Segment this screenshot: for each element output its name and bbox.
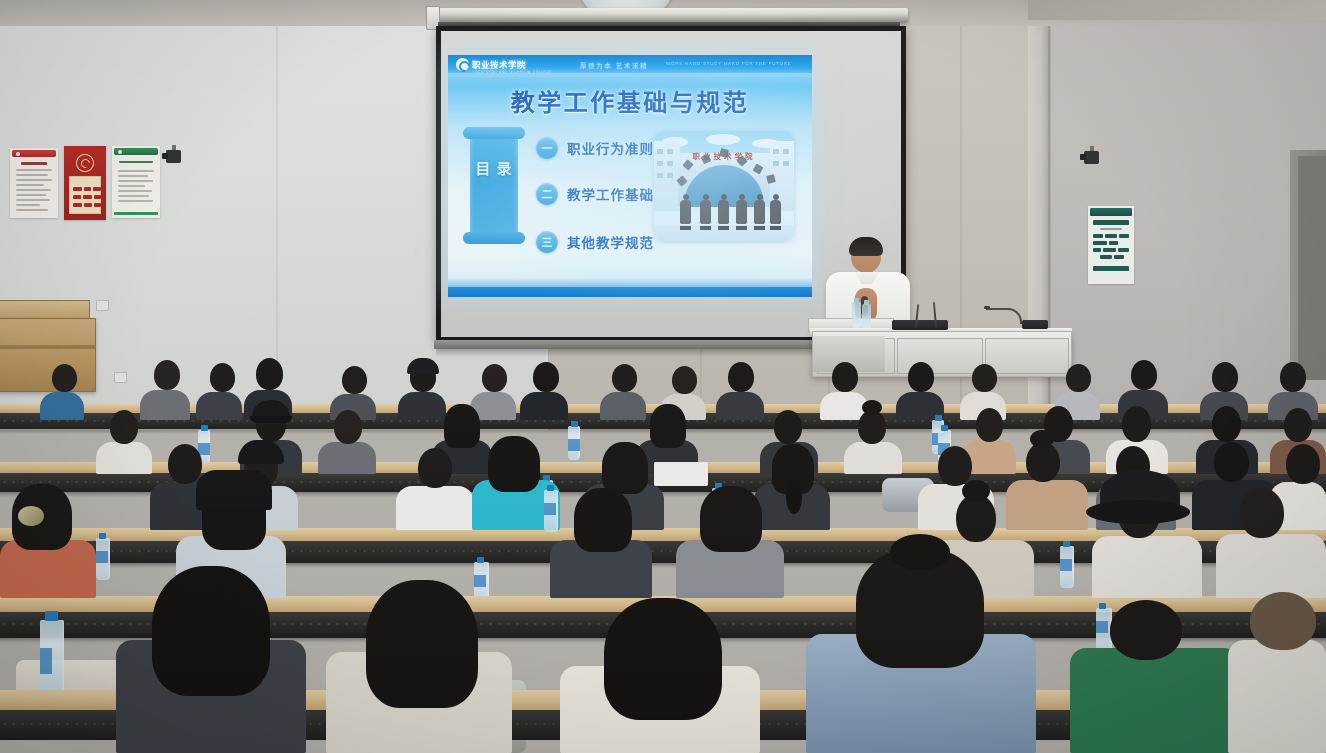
toc-label-3: 其他教学规范 <box>567 232 654 252</box>
graduate-figure <box>716 193 731 227</box>
microphone-head <box>984 306 990 309</box>
hair-bun <box>890 534 950 570</box>
hair-bun <box>962 480 990 502</box>
lecture-hall-photo: 职业技术学院 VOCATIONAL AND TECHNICAL COLLEGE … <box>0 0 1326 753</box>
college-logo-icon <box>456 58 469 71</box>
bottle-label <box>1060 559 1072 571</box>
bottle-label <box>40 648 52 674</box>
poster-table <box>69 176 101 214</box>
baseball-cap <box>407 358 439 374</box>
cardboard-boxes <box>0 318 96 392</box>
slide-title: 教学工作基础与规范 <box>448 83 812 118</box>
bottle-label <box>568 439 580 451</box>
camera-left-wall-icon <box>166 150 181 163</box>
bottle-cap <box>1063 541 1070 547</box>
presenter-hair <box>849 237 883 256</box>
bottle-cap <box>935 415 942 421</box>
bottle-cap <box>1099 603 1106 609</box>
presentation-slide: 职业技术学院 VOCATIONAL AND TECHNICAL COLLEGE … <box>448 55 812 297</box>
green-shirt <box>1070 648 1240 753</box>
bottle-cap <box>941 425 948 431</box>
graduate-figure <box>678 193 693 227</box>
water-bottle <box>96 538 110 580</box>
graduation-photo: 职业技术学院 <box>654 131 794 241</box>
poster-header-bar <box>114 148 158 155</box>
toc-number-2: 二 <box>536 183 558 205</box>
wall-outlet <box>114 372 127 383</box>
toc-number-1: 一 <box>536 137 558 159</box>
toc-number-3: 三 <box>536 231 558 253</box>
graduate-figure <box>768 193 783 227</box>
slide-header-motto-cn: 厚德为本 艺术求精 <box>580 60 648 70</box>
bottle-cap <box>477 557 484 563</box>
paper-sheet <box>654 462 708 486</box>
water-bottle <box>568 426 580 460</box>
water-bottle <box>1060 546 1074 588</box>
bottle-cap <box>547 485 554 491</box>
bottle-cap <box>45 611 58 621</box>
graduate-figure <box>734 193 749 227</box>
screen-roller-housing <box>428 8 908 22</box>
toc-label-1: 职业行为准则 <box>567 138 654 158</box>
lectern-equipment <box>892 320 948 330</box>
podium-water-bottle <box>862 304 871 330</box>
toc-item-3: 三 其他教学规范 <box>536 231 654 253</box>
poster-notice-white <box>10 148 58 218</box>
bottle-label <box>544 503 556 515</box>
poster-seal-icon <box>76 154 94 172</box>
cap-brim <box>250 416 292 423</box>
slide-footer-band <box>448 287 812 297</box>
ceiling-slope-right <box>1028 0 1326 20</box>
lectern-equipment <box>1022 320 1048 329</box>
bottle-label <box>474 575 486 587</box>
college-logo-subtext: VOCATIONAL AND TECHNICAL COLLEGE <box>472 70 552 74</box>
bottle-cap <box>99 533 106 539</box>
bottle-cap <box>201 425 208 431</box>
toc-label-2: 教学工作基础 <box>567 184 654 204</box>
college-logo-text: 职业技术学院 <box>472 59 526 71</box>
poster-emblem-red <box>64 146 106 220</box>
bottle-label <box>1096 621 1108 633</box>
poster-info-teal <box>1088 206 1134 284</box>
poster-emblem-dot <box>118 150 122 154</box>
wall-outlet <box>96 300 109 311</box>
door-panel[interactable] <box>1298 156 1326 380</box>
bottle-label <box>96 551 108 563</box>
poster-emblem-dot <box>16 152 20 156</box>
baseball-cap <box>196 470 272 510</box>
slide-header-motto-en: WORK HARD STUDY HARD FOR THE FUTURE <box>666 61 791 66</box>
water-bottle <box>544 490 558 532</box>
camera-right-wall-icon <box>1084 151 1099 164</box>
poster-title-line <box>21 162 47 165</box>
toc-item-2: 二 教学工作基础 <box>536 183 654 205</box>
podium-water-bottle <box>852 302 861 328</box>
bucket-hat-brim <box>1086 500 1190 524</box>
water-bottle <box>40 620 64 692</box>
hair-bun <box>1030 430 1054 448</box>
hair-scrunchie <box>18 506 44 526</box>
graduate-figure <box>752 193 767 227</box>
poster-header-bar <box>12 150 56 157</box>
box-tape <box>0 345 95 349</box>
poster-notice-green <box>112 146 160 218</box>
lectern-panel <box>985 338 1069 374</box>
toc-item-1: 一 职业行为准则 <box>536 137 654 159</box>
graduate-figure <box>698 193 713 227</box>
microphone-gooseneck <box>986 308 1022 324</box>
hair-bun <box>862 400 882 415</box>
poster-header-bar <box>1090 208 1132 216</box>
toc-scroll-label: 目 录 <box>470 159 518 181</box>
toc-scroll-banner: 目 录 <box>470 133 518 238</box>
bottle-cap <box>571 421 578 427</box>
